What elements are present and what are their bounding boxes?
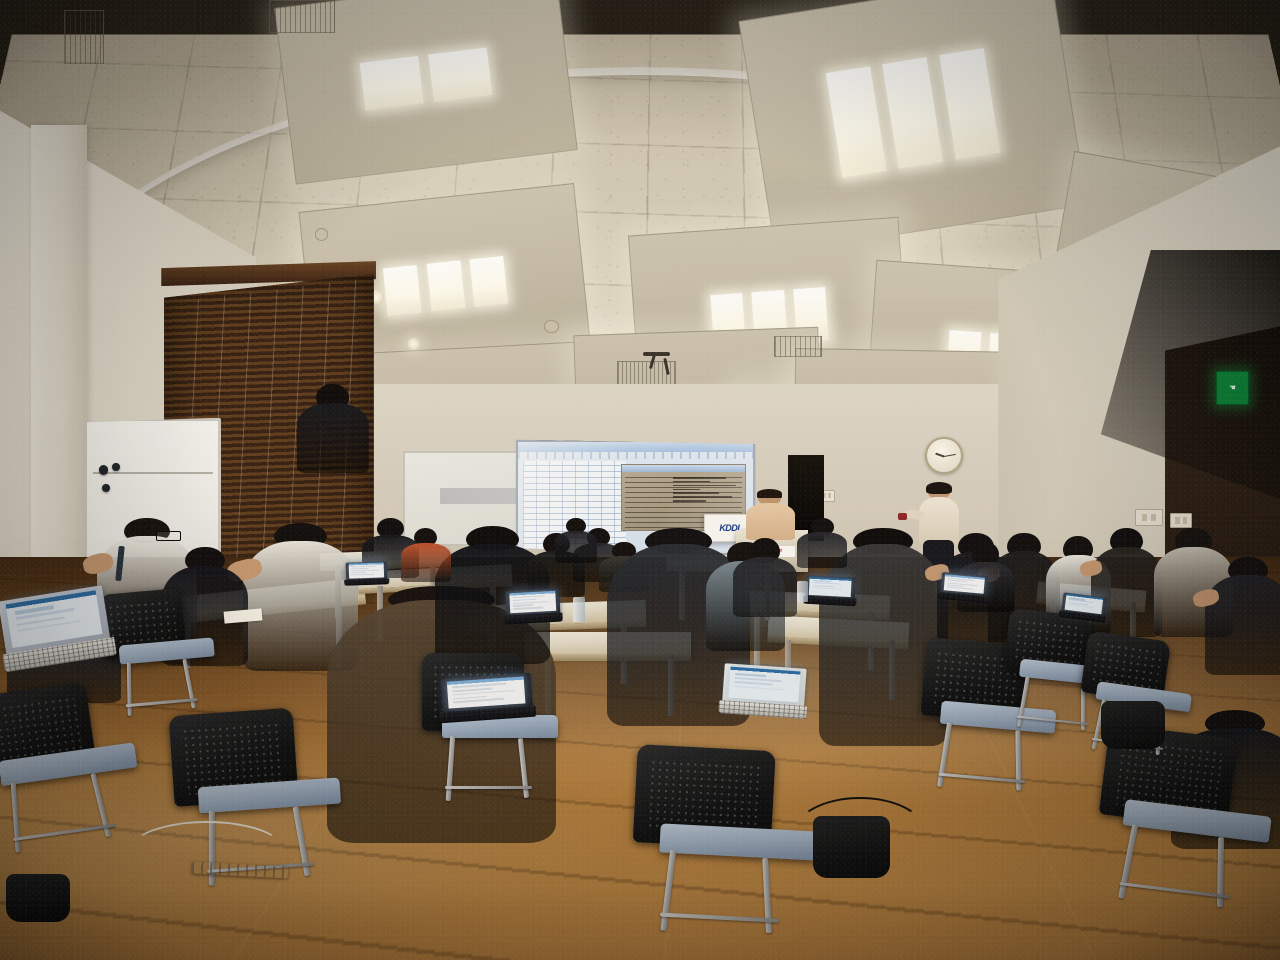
screen-content-row	[350, 568, 368, 569]
outlet-slot	[1175, 517, 1179, 523]
fluorescent-tube	[426, 260, 465, 311]
screen-content-row	[512, 607, 543, 610]
outlet-slot	[1183, 517, 1187, 523]
fluorescent-tube	[383, 265, 422, 316]
water-bottle	[797, 581, 807, 602]
laptop[interactable]	[806, 575, 856, 606]
recessed-downlight	[407, 338, 420, 350]
laptop[interactable]	[722, 663, 807, 718]
screen-content-block	[1069, 604, 1095, 608]
audience-member	[557, 518, 595, 561]
backpack-bag	[6, 874, 70, 922]
laptop[interactable]	[1061, 593, 1107, 623]
person-torso	[733, 557, 798, 616]
presenter-torso	[746, 503, 795, 540]
screen-content-row	[946, 587, 972, 590]
keyboard-keys	[344, 578, 388, 586]
laptop[interactable]	[505, 589, 560, 624]
person-torso	[401, 543, 451, 582]
laptop-keyboard[interactable]	[344, 578, 388, 586]
presenter-hair	[757, 489, 782, 498]
chair-leg	[127, 662, 132, 716]
screen-content-row	[351, 572, 367, 573]
outlet-slot	[828, 493, 831, 498]
person-torso	[797, 532, 847, 568]
water-bottle	[573, 597, 585, 622]
stacking-chair[interactable]	[0, 675, 149, 822]
laptop[interactable]	[940, 572, 988, 603]
presenter	[745, 490, 796, 540]
laptop-screen	[348, 562, 384, 577]
fluorescent-tube	[428, 48, 492, 103]
screen-content-row	[350, 565, 375, 567]
laptop-screen	[810, 577, 853, 597]
wall-power-outlet[interactable]	[1170, 513, 1192, 528]
audience-member	[800, 518, 845, 566]
laptop-screen	[728, 667, 800, 703]
fluorescent-tube	[470, 256, 509, 307]
audience-member	[1210, 557, 1280, 672]
screen-content-row	[350, 569, 378, 571]
clock-minute-hand	[944, 454, 956, 457]
wall-power-outlet[interactable]	[1135, 509, 1163, 526]
stacking-chair[interactable]	[98, 586, 221, 692]
backpack-bag	[1101, 701, 1165, 749]
laptop[interactable]	[440, 673, 532, 723]
screen-content-row	[452, 683, 506, 688]
outlet-slot	[1142, 514, 1147, 521]
fluorescent-tube	[939, 48, 1000, 159]
laptop[interactable]	[345, 561, 387, 585]
laptop-screen	[944, 574, 985, 594]
air-vent	[774, 336, 822, 357]
smoke-detector	[544, 320, 559, 334]
chair-cross-brace	[445, 786, 532, 789]
screen-content-block	[813, 588, 842, 591]
whiteboard-magnet[interactable]	[102, 484, 110, 492]
photo-scene: ☚	[0, 0, 1280, 960]
screen-content-row	[351, 574, 374, 576]
projector-mount-plate	[643, 352, 670, 355]
moderator-microphone[interactable]	[898, 513, 907, 520]
moderator-hair	[926, 482, 953, 494]
exit-running-man-icon: ☚	[1229, 384, 1236, 392]
laptop-screen	[447, 676, 526, 709]
audience-member	[736, 538, 794, 615]
audience-member	[403, 528, 448, 581]
wall-clock	[925, 437, 962, 475]
floor-cable	[128, 821, 286, 883]
person-torso	[555, 531, 598, 563]
whiteboard-marker-rail	[93, 472, 213, 474]
air-vent	[64, 10, 104, 65]
whiteboard-magnet[interactable]	[112, 463, 120, 471]
whiteboard-magnet[interactable]	[99, 465, 108, 474]
person-torso	[297, 403, 369, 472]
outlet-slot	[1151, 514, 1156, 521]
fluorescent-tube	[826, 66, 887, 177]
eyeglasses-icon	[156, 531, 181, 541]
floor-cable-dark	[794, 797, 926, 868]
laptop-screen	[509, 591, 556, 614]
audience-member	[301, 384, 365, 470]
fluorescent-tube	[360, 56, 424, 111]
air-vent	[269, 0, 335, 33]
fluorescent-tube	[883, 57, 944, 168]
emergency-exit-sign: ☚	[1216, 371, 1249, 406]
smoke-detector	[315, 228, 329, 240]
screen-content-block	[735, 686, 784, 691]
